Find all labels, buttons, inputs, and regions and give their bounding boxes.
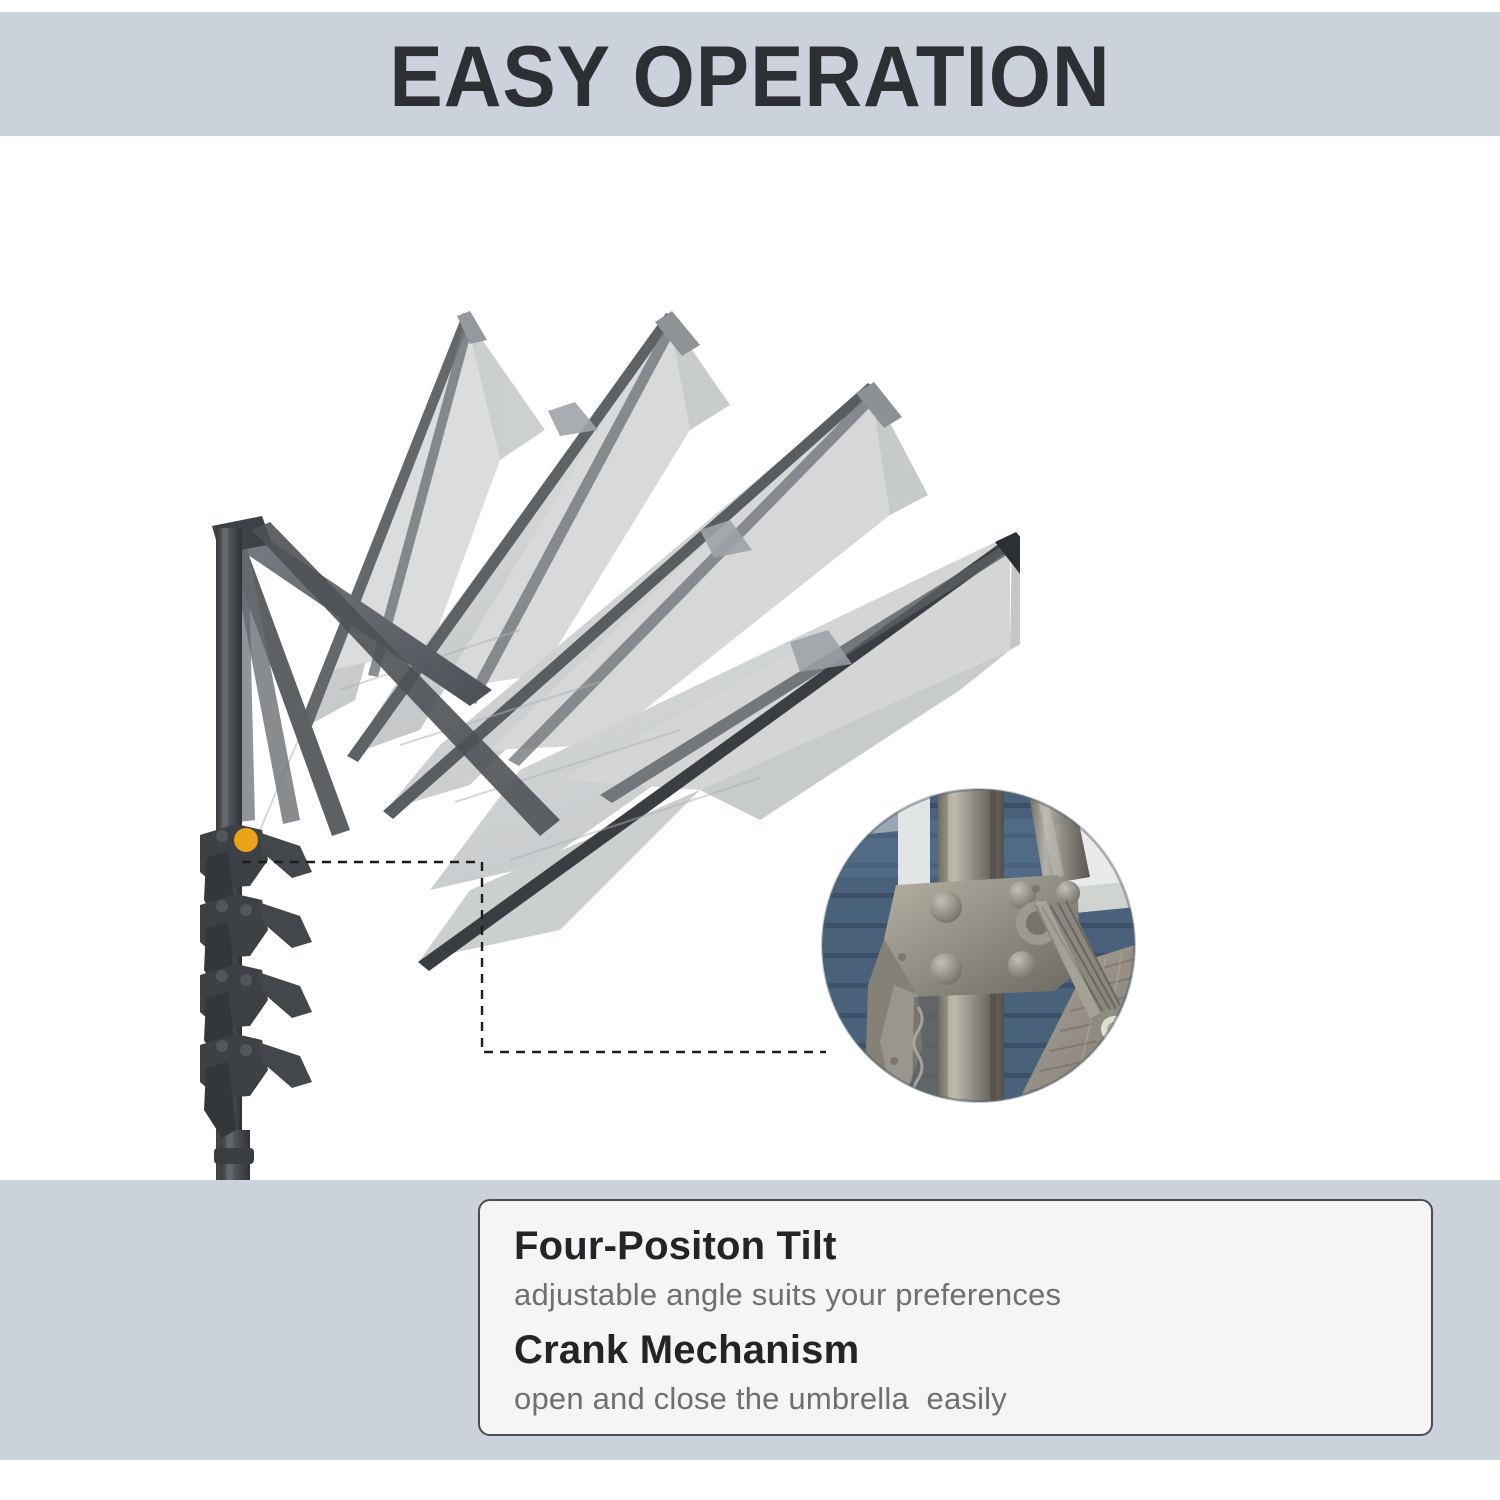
crank-mechanism-closeup	[822, 789, 1135, 1102]
tilt-bracket-4	[200, 1034, 312, 1138]
tilt-highlight-dot	[234, 828, 258, 852]
feature-block-1: Four-Positon Tilt adjustable angle suits…	[514, 1225, 1431, 1312]
infographic-canvas: EASY OPERATION	[0, 0, 1500, 1500]
feature-subtitle-tilt: adjustable angle suits your preferences	[514, 1278, 1431, 1312]
feature-title-tilt: Four-Positon Tilt	[514, 1225, 1431, 1267]
tilt-bracket-stack	[200, 824, 312, 1138]
feature-block-2: Crank Mechanism open and close the umbre…	[514, 1329, 1431, 1416]
feature-subtitle-crank: open and close the umbrella easily	[514, 1382, 1431, 1416]
feature-panel: Four-Positon Tilt adjustable angle suits…	[478, 1199, 1433, 1436]
page-title: EASY OPERATION	[53, 34, 1448, 120]
feature-title-crank: Crank Mechanism	[514, 1329, 1431, 1371]
